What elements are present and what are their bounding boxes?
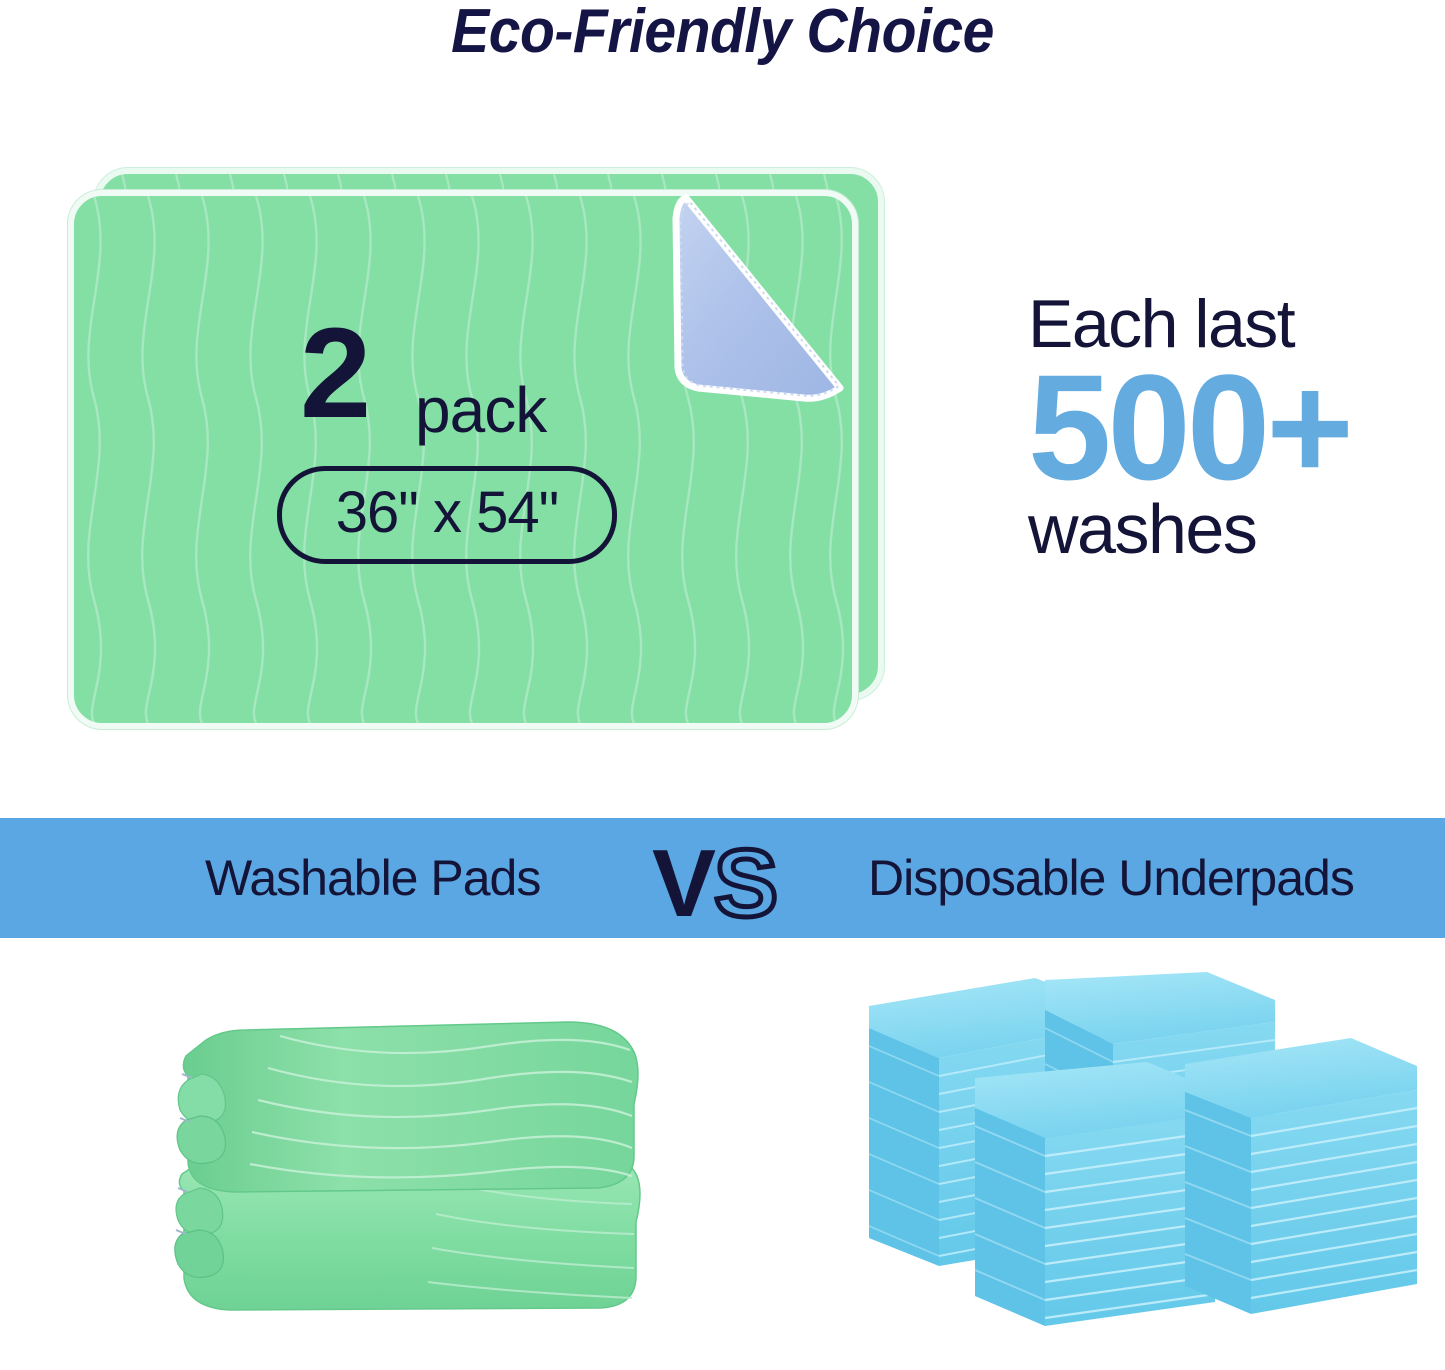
pack-callout: 2 pack 36" x 54" [300,328,660,620]
hero-section: 2 pack 36" x 54" Each last 500+ washes [0,70,1445,818]
size-badge: 36" x 54" [277,466,617,564]
disposable-underpads-image [855,966,1425,1336]
claim-line-3: washes [1028,494,1428,564]
banner-label-right: Disposable Underpads [868,849,1354,907]
vs-icon: V S [652,836,812,924]
folded-washable-pads-image [160,976,660,1331]
pack-count: 2 [300,310,367,438]
claim-wash-count: 500+ [1028,363,1428,492]
svg-text:V: V [652,836,716,924]
comparison-section [0,938,1445,1370]
size-text: 36" x 54" [336,484,558,542]
pad-folded-corner [672,192,844,404]
durability-claim: Each last 500+ washes [1028,292,1428,564]
comparison-banner: Washable Pads V S Disposable Underpads [0,818,1445,938]
pack-label: pack [415,378,546,442]
svg-text:S: S [714,836,778,924]
page-title: Eco-Friendly Choice [58,0,1387,67]
banner-label-left: Washable Pads [205,849,540,907]
